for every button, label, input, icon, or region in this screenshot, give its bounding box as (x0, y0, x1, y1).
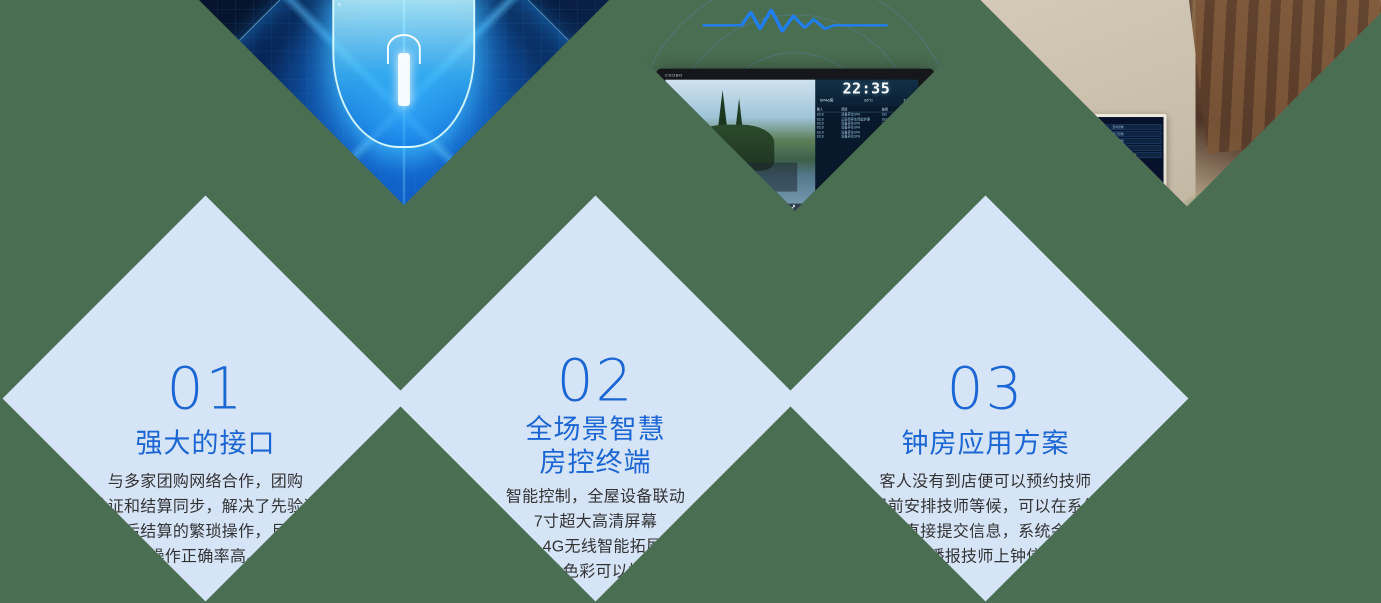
panel-menu-item[interactable]: 暂停技师预留2小时 (1111, 152, 1162, 158)
clock-time: 22:35 (818, 81, 915, 96)
spark-dot (273, 134, 279, 140)
card-desc-line: 众多色彩可以搭配 (506, 559, 685, 584)
card-title-line: 房控终端 (526, 446, 666, 479)
card-number: 01 (167, 360, 245, 418)
panel-key[interactable] (1129, 196, 1143, 202)
card-desc-line: 2.4G无线智能拓展 (506, 534, 685, 559)
heartbeat-icon (702, 7, 887, 33)
card-2: 02 全场景智慧 房控终端 智能控制，全屋设备联动 7寸超大高清屏幕 2.4G无… (393, 196, 799, 602)
cell-item: 设备养生SPA (841, 135, 881, 139)
panel-menu-item[interactable]: 普通技师排班 (1058, 145, 1109, 151)
panel-menu-item[interactable]: SPA技师 (1058, 138, 1109, 144)
card-title: 钟房应用方案 (902, 428, 1070, 461)
panel-side-button[interactable]: 圈 钟 (1030, 138, 1056, 144)
panel-key[interactable] (1065, 196, 1079, 202)
panel-menu-row: 保健技师推门控制 (1058, 131, 1162, 137)
panel-body: 点 钟CALL钟圈 钟转房间点 钟 保健专家技师定时控制保健技师推门控制SPA技… (1030, 124, 1161, 193)
panel-screen: 客房控制 点 钟CALL钟圈 钟转房间点 钟 保健专家技师定时控制保健技师推门控… (1029, 117, 1163, 194)
panel-menu-item[interactable]: 推门控制 (1111, 131, 1162, 137)
card-desc-line: 后结算的繁琐操作，且 (91, 520, 319, 545)
cell-status: 下钟 (898, 122, 916, 126)
panel-menu-item[interactable]: 保健技师 (1058, 131, 1109, 137)
cell-status: 下钟 (898, 113, 916, 117)
panel-side-button[interactable]: 点 钟 (1030, 124, 1056, 130)
nav-item-3[interactable]: 服务模式 (883, 204, 899, 210)
panel-title: 客房控制 (1030, 119, 1161, 123)
col-tech: 技师 (882, 107, 898, 111)
tablet-nav-bar[interactable]: 呼叫服务 扫灯/清单 ▞ 空房-26 服务模式 (665, 203, 918, 210)
panel-menu-row: 高级技师排班暂停技师预留2小时 (1058, 152, 1162, 158)
card-description: 客人没有到店便可以预约技师 并提前安排技师等候，可以在系统中 直接提交信息，系统… (855, 470, 1116, 570)
clock-widget: 22:35 SPA6房 26°C 11/24 (815, 79, 918, 106)
card-desc-line: 自动播报技师上钟信息。 (855, 545, 1116, 570)
wall-control-panel[interactable]: 客房控制 点 钟CALL钟圈 钟转房间点 钟 保健专家技师定时控制保健技师推门控… (1026, 114, 1166, 206)
card-image-2: CSI2BO 客房控制 沙发音乐 22:35 (584, 0, 1005, 211)
panel-key[interactable] (1049, 196, 1063, 202)
card-desc-line: 与多家团购网络合作，团购 (91, 470, 319, 495)
panel-left-buttons[interactable]: 点 钟CALL钟圈 钟转房间点 钟 (1030, 124, 1056, 193)
temperature-label: 26°C (864, 98, 873, 103)
cell-status: 加钟中 (898, 130, 916, 134)
table-row: 8118设备养生SPA182下钟 (817, 135, 916, 139)
card-title-line: 强大的接口 (136, 428, 276, 461)
panel-menu-item[interactable]: 按摩控制 (1111, 138, 1162, 144)
date-label: 11/24 (903, 98, 913, 103)
card-number: 02 (557, 351, 635, 409)
card-image-3: 客房控制 点 钟CALL钟圈 钟转房间点 钟 保健专家技师定时控制保健技师推门控… (981, 0, 1381, 206)
panel-key[interactable] (1081, 196, 1095, 202)
col-guest: 客人 (817, 107, 841, 111)
tablet-screen: 沙发音乐 22:35 SPA6房 26°C 11/24 (665, 79, 918, 210)
cell-status: 余11:50 (898, 117, 916, 121)
wall-surface (981, 0, 1212, 206)
panel-side-button[interactable]: CALL钟 (1030, 131, 1056, 137)
nav-item-2[interactable]: 空房-26 (832, 204, 846, 210)
card-2-content: 02 全场景智慧 房控终端 智能控制，全屋设备联动 7寸超大高清屏幕 2.4G无… (393, 280, 799, 602)
plant-foliage (1162, 193, 1245, 207)
clock-subinfo: SPA6房 26°C 11/24 (818, 96, 915, 103)
spark-dot (527, 167, 532, 172)
col-status: 状态 (898, 107, 916, 111)
table-body: 8118设备养生SPA182下钟8118正筋骨养生保健护理182余11:5081… (817, 113, 916, 139)
panel-menu-row: 普通技师排班采买管理 (1058, 145, 1162, 151)
room-label: SPA6房 (820, 97, 834, 103)
service-table: 客人 项目 技师 状态 8118设备养生SPA182下钟8118正筋骨养生保健护… (815, 106, 918, 210)
tablet-wallpaper: 沙发音乐 (665, 79, 815, 210)
nav-item-0[interactable]: 呼叫服务 (684, 204, 700, 210)
panel-key[interactable] (1097, 196, 1111, 202)
panel-side-button[interactable]: 转房间 (1030, 145, 1056, 151)
card-1: 01 强大的接口 与多家团购网络合作，团购 验证和结算同步，解决了先验证 后结算… (3, 196, 409, 602)
card-1-content: 01 强大的接口 与多家团购网络合作，团购 验证和结算同步，解决了先验证 后结算… (3, 280, 409, 602)
panel-menu-item[interactable]: 高级技师排班 (1058, 152, 1109, 158)
card-desc-line: 验证和结算同步，解决了先验证 (91, 495, 319, 520)
media-label: 沙发音乐 (727, 175, 743, 180)
card-title-line: 钟房应用方案 (902, 428, 1070, 461)
card-desc-line: 直接提交信息，系统会 (855, 520, 1116, 545)
tablet-device: CSI2BO 客房控制 沙发音乐 22:35 (656, 68, 934, 210)
tablet-brand: CSI2BO (665, 72, 683, 77)
card-desc-line: 操作正确率高。 (91, 545, 319, 570)
card-description: 智能控制，全屋设备联动 7寸超大高清屏幕 2.4G无线智能拓展 众多色彩可以搭配 (506, 484, 685, 584)
wall-mounted-control-panel-spa: 客房控制 点 钟CALL钟圈 钟转房间点 钟 保健专家技师定时控制保健技师推门控… (981, 0, 1381, 206)
panel-side-button[interactable]: 点 钟 (1030, 152, 1056, 158)
cell-status: 下钟 (898, 135, 916, 139)
panel-menu-row: 保健专家技师定时控制 (1058, 124, 1162, 130)
wood-slats (1184, 0, 1381, 154)
panel-hardware-keys[interactable] (1029, 196, 1163, 202)
panel-key[interactable] (1113, 196, 1127, 202)
panel-menu-row: SPA技师按摩控制 (1058, 138, 1162, 144)
grid-icon[interactable]: ▞ (792, 205, 795, 210)
cell-tech: 182 (882, 122, 898, 126)
card-desc-line: 客人没有到店便可以预约技师 (855, 470, 1116, 495)
glowing-shield-circuit-board (199, 0, 609, 205)
panel-menu-item[interactable]: 保健专家技师 (1058, 124, 1109, 130)
card-description: 与多家团购网络合作，团购 验证和结算同步，解决了先验证 后结算的繁琐操作，且 操… (91, 470, 319, 570)
card-number: 03 (947, 360, 1025, 418)
plant-foliage (1212, 143, 1328, 206)
cell-tech: 182 (882, 130, 898, 134)
card-desc-line: 智能控制，全屋设备联动 (506, 484, 685, 509)
panel-menu-item[interactable]: 定时控制 (1111, 124, 1162, 130)
col-item: 项目 (841, 107, 881, 111)
card-image-1 (199, 0, 609, 205)
cell-status: 待上钟 (898, 126, 916, 130)
cell-guest: 8118 (817, 135, 841, 139)
card-desc-line: 7寸超大高清屏幕 (506, 509, 685, 534)
card-title: 强大的接口 (136, 428, 276, 461)
media-player-bar[interactable]: 沙发音乐 (674, 162, 797, 191)
nav-item-1[interactable]: 扫灯/清单 (737, 204, 754, 210)
smart-room-control-tablet: CSI2BO 客房控制 沙发音乐 22:35 (584, 0, 1005, 211)
card-title-line: 全场景智慧 (526, 413, 666, 446)
card-3-content: 03 钟房应用方案 客人没有到店便可以预约技师 并提前安排技师等候，可以在系统中… (783, 280, 1189, 602)
panel-menu-grid[interactable]: 保健专家技师定时控制保健技师推门控制SPA技师按摩控制普通技师排班采买管理高级技… (1058, 124, 1162, 193)
tablet-side-label: 客房控制 (925, 103, 930, 117)
cell-tech: 182 (882, 135, 898, 139)
card-3: 03 钟房应用方案 客人没有到店便可以预约技师 并提前安排技师等候，可以在系统中… (783, 196, 1189, 602)
card-desc-line: 并提前安排技师等候，可以在系统中 (855, 495, 1116, 520)
panel-menu-item[interactable]: 采买管理 (1111, 145, 1162, 151)
card-title: 全场景智慧 房控终端 (526, 413, 666, 479)
tablet-info-pane: 22:35 SPA6房 26°C 11/24 客人 项目 技师 (815, 79, 918, 210)
cell-tech: 182 (882, 126, 898, 130)
infographic-stage: CSI2BO 客房控制 沙发音乐 22:35 (0, 0, 1381, 603)
